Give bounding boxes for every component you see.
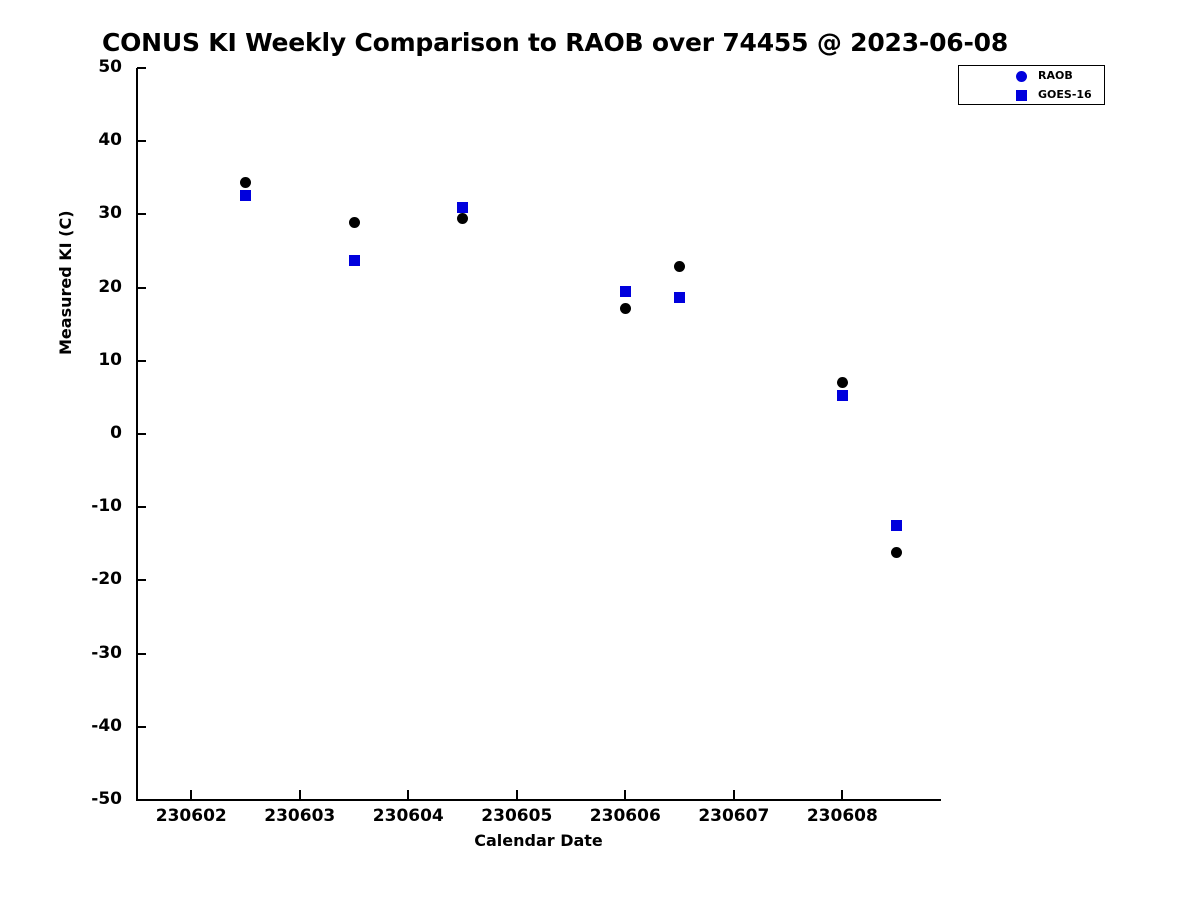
data-point-goes-16 [674,292,685,303]
y-tick-label: -20 [42,569,122,589]
chart-title: CONUS KI Weekly Comparison to RAOB over … [0,28,1110,57]
y-axis-label: Measured KI (C) [56,325,75,355]
y-tick-label: 40 [42,130,122,150]
data-point-goes-16 [240,190,251,201]
data-point-raob [674,261,685,272]
y-tick-label: -30 [42,643,122,663]
data-point-raob [349,217,360,228]
data-point-goes-16 [837,390,848,401]
legend-label: GOES-16 [1038,88,1092,101]
y-tick-label: 50 [42,57,122,77]
chart-figure: CONUS KI Weekly Comparison to RAOB over … [0,0,1200,900]
legend-label: RAOB [1038,69,1073,82]
data-point-goes-16 [457,202,468,213]
plot-area [137,68,940,800]
data-point-raob [837,377,848,388]
data-point-goes-16 [349,255,360,266]
data-point-raob [240,177,251,188]
legend-entry: GOES-16 [959,86,1106,106]
y-tick-label: -10 [42,496,122,516]
y-tick-label: 20 [42,277,122,297]
legend-marker-square-icon [1016,90,1027,101]
y-tick-label: -50 [42,789,122,809]
data-point-goes-16 [891,520,902,531]
legend-entry: RAOB [959,67,1106,87]
x-axis-label: Calendar Date [137,831,940,850]
y-tick-label: 30 [42,203,122,223]
data-point-raob [620,303,631,314]
y-tick-label: -40 [42,716,122,736]
legend-marker-circle-icon [1016,71,1027,82]
x-tick-label: 230608 [777,806,907,826]
y-tick-label: 10 [42,350,122,370]
data-point-goes-16 [620,286,631,297]
chart-legend: RAOBGOES-16 [958,65,1105,105]
y-tick-label: 0 [42,423,122,443]
